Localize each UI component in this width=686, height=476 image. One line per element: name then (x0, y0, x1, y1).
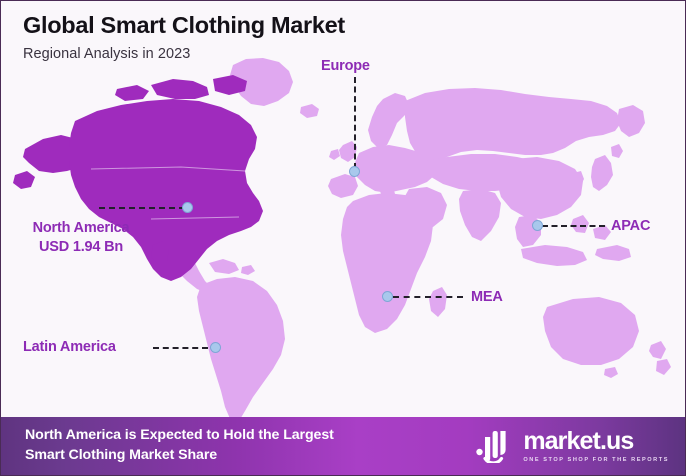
callout-region-north-america: North America (33, 220, 130, 236)
callout-label-mea: MEA (471, 288, 503, 307)
logo-wordmark: market.us (523, 429, 669, 454)
banner-headline-line1: North America is Expected to Hold the La… (25, 427, 334, 443)
map-marker-apac[interactable] (532, 220, 543, 231)
leader-line-apac (542, 225, 605, 227)
market-us-logo-icon (474, 429, 514, 463)
leader-line-latin-america (153, 347, 208, 349)
callout-label-apac: APAC (611, 217, 650, 236)
header: Global Smart Clothing Market Regional An… (23, 13, 345, 62)
map-marker-latin-america[interactable] (210, 342, 221, 353)
infographic-card: Global Smart Clothing Market Regional An… (0, 0, 686, 476)
callout-label-north-america: North America USD 1.94 Bn (15, 219, 147, 256)
map-marker-europe[interactable] (349, 166, 360, 177)
leader-line-europe (354, 77, 356, 169)
map-marker-mea[interactable] (382, 291, 393, 302)
map-marker-north-america[interactable] (182, 202, 193, 213)
callout-label-latin-america: Latin America (23, 338, 116, 357)
banner-headline-line2: Smart Clothing Market Share (25, 446, 334, 466)
banner-headline: North America is Expected to Hold the La… (25, 426, 334, 465)
callout-value-north-america: USD 1.94 Bn (15, 238, 147, 257)
page-title: Global Smart Clothing Market (23, 13, 345, 39)
market-us-logo[interactable]: market.us ONE STOP SHOP FOR THE REPORTS (474, 429, 669, 463)
logo-tagline: ONE STOP SHOP FOR THE REPORTS (523, 457, 669, 463)
footer-banner: North America is Expected to Hold the La… (1, 417, 686, 475)
leader-line-north-america (99, 207, 185, 209)
logo-text: market.us ONE STOP SHOP FOR THE REPORTS (523, 429, 669, 463)
page-subtitle: Regional Analysis in 2023 (23, 46, 345, 62)
leader-line-mea (393, 296, 463, 298)
